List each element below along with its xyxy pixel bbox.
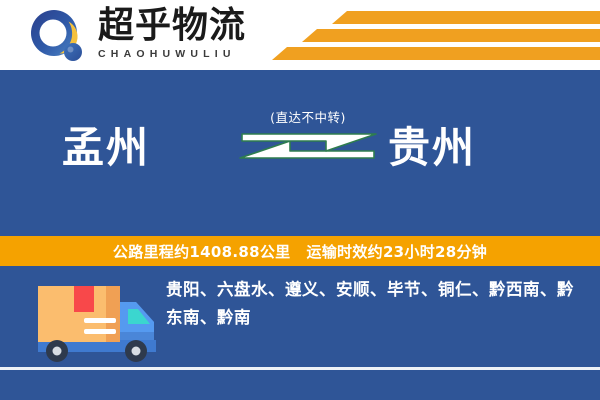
info-bar: 公路里程约1408.88公里 运输时效约23小时28分钟 [0,236,600,266]
delivery-truck-icon [24,272,164,372]
decorative-stripes [270,6,600,66]
coverage-section: 贵阳、六盘水、遵义、安顺、毕节、铜仁、黔西南、黔东南、黔南 [0,266,600,400]
stripe-1 [332,11,600,24]
covered-cities-text: 贵阳、六盘水、遵义、安顺、毕节、铜仁、黔西南、黔东南、黔南 [166,276,578,332]
logistics-route-banner: 超乎物流 CHAOHUWULIU 孟州 (直达不中转) 【往返运输】 贵州 公路… [0,0,600,400]
circle-crescent-logo-icon [28,8,90,64]
route-arrow-block: (直达不中转) 【往返运输】 [238,110,378,198]
route-section: 孟州 (直达不中转) 【往返运输】 贵州 [0,70,600,236]
duration-text: 运输时效约23小时28分钟 [306,241,487,262]
origin-city: 孟州 [62,122,150,174]
ground-line [0,367,600,370]
brand-text: 超乎物流 CHAOHUWULIU [98,6,278,64]
brand-name-en: CHAOHUWULIU [98,47,278,61]
stripe-2 [302,29,600,42]
stripe-3 [272,47,600,60]
distance-text: 公路里程约1408.88公里 [113,241,291,262]
destination-city: 贵州 [388,122,476,174]
header-bar: 超乎物流 CHAOHUWULIU [0,0,600,70]
bidirectional-arrow-icon [238,132,378,168]
brand-name-cn: 超乎物流 [98,6,278,46]
direct-transit-note: (直达不中转) [238,110,378,126]
